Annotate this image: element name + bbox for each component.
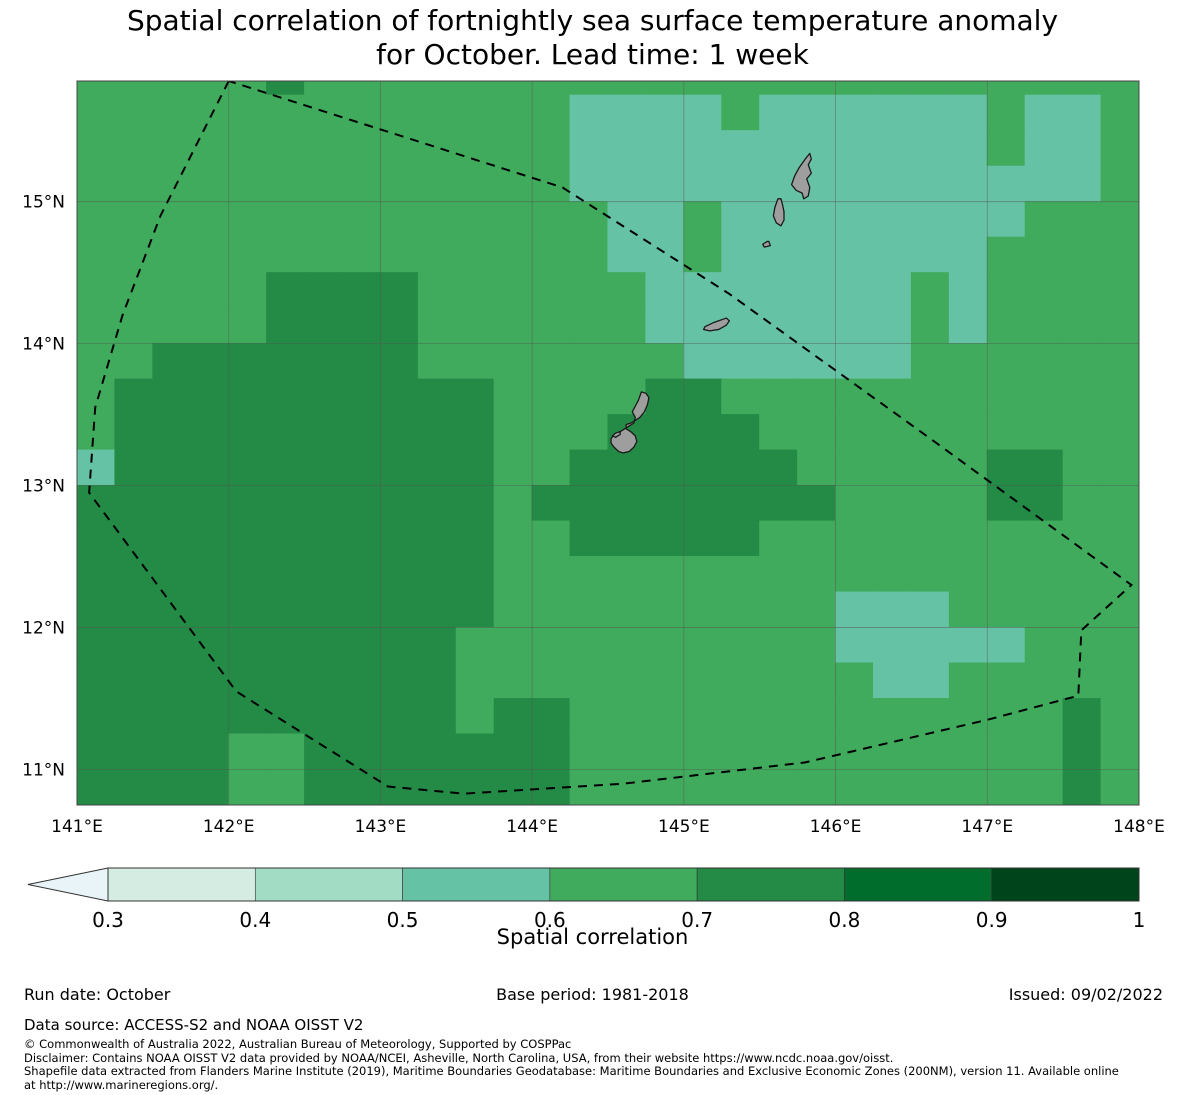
heatmap-cell	[342, 485, 381, 521]
heatmap-cell	[456, 734, 495, 770]
x-tick-label: 143°E	[355, 817, 407, 837]
x-tick-label: 144°E	[506, 817, 558, 837]
heatmap-cell	[987, 521, 1026, 557]
heatmap-cell	[456, 379, 495, 415]
heatmap-cell	[266, 95, 305, 131]
heatmap-cell	[1063, 627, 1102, 663]
heatmap-cell	[494, 130, 533, 166]
heatmap-cell	[1025, 95, 1064, 131]
heatmap-cell	[114, 237, 153, 273]
heatmap-cell	[683, 130, 722, 166]
heatmap-cell	[304, 272, 343, 308]
heatmap-cell	[987, 556, 1026, 592]
heatmap-cell	[114, 130, 153, 166]
heatmap-cell	[645, 556, 684, 592]
heatmap-cell	[683, 166, 722, 202]
heatmap-cell	[152, 308, 191, 344]
heatmap-cell	[1025, 450, 1064, 486]
heatmap-cell	[683, 592, 722, 628]
heatmap-cell	[342, 414, 381, 450]
heatmap-cell	[152, 81, 191, 96]
heatmap-cell	[608, 272, 647, 308]
heatmap-cell	[911, 734, 950, 770]
heatmap-cell	[1063, 308, 1102, 344]
heatmap-cell	[645, 769, 684, 805]
heatmap-cell	[645, 521, 684, 557]
heatmap-cell	[873, 308, 912, 344]
heatmap-cell	[721, 627, 760, 663]
heatmap-cell	[873, 734, 912, 770]
heatmap-cell	[1025, 734, 1064, 770]
heatmap-cell	[456, 201, 495, 237]
heatmap-cell	[873, 237, 912, 273]
heatmap-cell	[152, 201, 191, 237]
heatmap-cell	[949, 556, 988, 592]
heatmap-cell	[835, 627, 874, 663]
heatmap-cell	[987, 308, 1026, 344]
heatmap-cell	[570, 769, 609, 805]
heatmap-cell	[266, 379, 305, 415]
heatmap-cell	[987, 769, 1026, 805]
heatmap-cell	[873, 379, 912, 415]
heatmap-cell	[418, 769, 457, 805]
heatmap-cell	[1025, 485, 1064, 521]
heatmap-cell	[418, 343, 457, 379]
colorbar	[28, 868, 1139, 901]
heatmap-cell	[759, 81, 798, 96]
heatmap-cell	[1101, 769, 1140, 805]
heatmap-cell	[873, 627, 912, 663]
heatmap-cell	[418, 95, 457, 131]
heatmap-cell	[797, 556, 836, 592]
heatmap-cell	[532, 343, 571, 379]
heatmap-cell	[304, 627, 343, 663]
heatmap-cell	[835, 201, 874, 237]
heatmap-cell	[645, 627, 684, 663]
heatmap-cell	[380, 556, 419, 592]
heatmap-cell	[494, 272, 533, 308]
heatmap-cells	[77, 81, 1140, 806]
heatmap-cell	[949, 485, 988, 521]
heatmap-cell	[1063, 272, 1102, 308]
heatmap-cell	[949, 201, 988, 237]
heatmap-cell	[77, 308, 116, 344]
heatmap-cell	[532, 698, 571, 734]
heatmap-cell	[1025, 663, 1064, 699]
heatmap-cell	[570, 592, 609, 628]
heatmap-cell	[835, 272, 874, 308]
heatmap-cell	[114, 592, 153, 628]
heatmap-cell	[304, 698, 343, 734]
heatmap-cell	[380, 343, 419, 379]
heatmap-cell	[797, 237, 836, 273]
heatmap-cell	[1025, 521, 1064, 557]
heatmap-cell	[418, 450, 457, 486]
heatmap-cell	[266, 81, 305, 96]
heatmap-cell	[380, 734, 419, 770]
heatmap-cell	[114, 95, 153, 131]
heatmap-cell	[266, 698, 305, 734]
heatmap-cell	[797, 379, 836, 415]
heatmap-cell	[873, 663, 912, 699]
heatmap-cell	[418, 308, 457, 344]
heatmap-cell	[380, 769, 419, 805]
heatmap-cell	[304, 166, 343, 202]
heatmap-cell	[1063, 81, 1102, 96]
heatmap-cell	[797, 272, 836, 308]
heatmap-cell	[645, 237, 684, 273]
heatmap-cell	[342, 308, 381, 344]
y-tick-label: 12°N	[22, 619, 65, 639]
heatmap-cell	[304, 379, 343, 415]
heatmap-cell	[418, 485, 457, 521]
heatmap-cell	[645, 201, 684, 237]
heatmap-cell	[304, 450, 343, 486]
heatmap-cell	[570, 201, 609, 237]
heatmap-cell	[949, 698, 988, 734]
heatmap-cell	[114, 414, 153, 450]
heatmap-cell	[949, 95, 988, 131]
heatmap-cell	[228, 521, 267, 557]
heatmap-cell	[266, 592, 305, 628]
heatmap-cell	[759, 95, 798, 131]
heatmap-cell	[190, 450, 229, 486]
heatmap-cell	[1025, 414, 1064, 450]
heatmap-cell	[721, 414, 760, 450]
heatmap-cell	[418, 734, 457, 770]
heatmap-cell	[949, 414, 988, 450]
heatmap-cell	[190, 201, 229, 237]
heatmap-cell	[190, 343, 229, 379]
heatmap-cell	[949, 627, 988, 663]
data-source-text: Data source: ACCESS-S2 and NOAA OISST V2	[24, 1016, 363, 1034]
heatmap-cell	[683, 556, 722, 592]
heatmap-cell	[1063, 592, 1102, 628]
heatmap-cell	[1101, 166, 1140, 202]
heatmap-cell	[228, 627, 267, 663]
heatmap-cell	[228, 698, 267, 734]
heatmap-cell	[380, 95, 419, 131]
heatmap-cell	[987, 698, 1026, 734]
x-tick-label: 146°E	[810, 817, 862, 837]
heatmap-cell	[1101, 343, 1140, 379]
heatmap-cell	[645, 272, 684, 308]
heatmap-cell	[645, 485, 684, 521]
heatmap-cell	[342, 521, 381, 557]
heatmap-cell	[532, 556, 571, 592]
heatmap-cell	[494, 698, 533, 734]
heatmap-cell	[532, 414, 571, 450]
heatmap-cell	[759, 130, 798, 166]
heatmap-cell	[1101, 450, 1140, 486]
heatmap-cell	[721, 237, 760, 273]
heatmap-cell	[266, 734, 305, 770]
heatmap-cell	[1063, 769, 1102, 805]
heatmap-cell	[797, 521, 836, 557]
heatmap-cell	[570, 308, 609, 344]
heatmap-cell	[911, 592, 950, 628]
heatmap-cell	[873, 556, 912, 592]
heatmap-cell	[873, 201, 912, 237]
heatmap-cell	[494, 734, 533, 770]
heatmap-cell	[911, 556, 950, 592]
heatmap-cell	[608, 734, 647, 770]
heatmap-cell	[304, 81, 343, 96]
heatmap-cell	[1101, 698, 1140, 734]
x-axis-tick-labels: 141°E142°E143°E144°E145°E146°E147°E148°E	[51, 817, 1165, 837]
heatmap-cell	[342, 166, 381, 202]
heatmap-cell	[797, 698, 836, 734]
heatmap-cell	[77, 663, 116, 699]
heatmap-cell	[721, 485, 760, 521]
heatmap-cell	[835, 166, 874, 202]
heatmap-cell	[683, 627, 722, 663]
colorbar-segment	[992, 868, 1139, 901]
heatmap-cell	[949, 769, 988, 805]
heatmap-cell	[114, 272, 153, 308]
heatmap-cell	[911, 379, 950, 415]
heatmap-cell	[1101, 95, 1140, 131]
heatmap-cell	[1101, 663, 1140, 699]
heatmap-cell	[380, 592, 419, 628]
heatmap-cell	[797, 81, 836, 96]
heatmap-cell	[570, 272, 609, 308]
heatmap-cell	[494, 81, 533, 96]
heatmap-cell	[759, 485, 798, 521]
heatmap-cell	[721, 201, 760, 237]
heatmap-cell	[835, 308, 874, 344]
heatmap-cell	[456, 95, 495, 131]
heatmap-cell	[380, 521, 419, 557]
heatmap-cell	[683, 485, 722, 521]
heatmap-cell	[152, 521, 191, 557]
heatmap-cell	[608, 450, 647, 486]
heatmap-cell	[152, 379, 191, 415]
heatmap-cell	[1025, 698, 1064, 734]
heatmap-cell	[683, 414, 722, 450]
heatmap-cell	[721, 450, 760, 486]
heatmap-cell	[570, 166, 609, 202]
heatmap-cell	[797, 95, 836, 131]
heatmap-cell	[835, 343, 874, 379]
heatmap-cell	[456, 308, 495, 344]
heatmap-cell	[570, 521, 609, 557]
heatmap-cell	[835, 81, 874, 96]
heatmap-cell	[759, 627, 798, 663]
heatmap-cell	[77, 95, 116, 131]
heatmap-cell	[418, 201, 457, 237]
heatmap-cell	[266, 769, 305, 805]
heatmap-cell	[1063, 556, 1102, 592]
heatmap-cell	[532, 308, 571, 344]
heatmap-cell	[77, 769, 116, 805]
heatmap-cell	[987, 343, 1026, 379]
heatmap-cell	[1101, 521, 1140, 557]
heatmap-cell	[228, 237, 267, 273]
heatmap-cell	[873, 81, 912, 96]
heatmap-cell	[759, 272, 798, 308]
heatmap-cell	[380, 166, 419, 202]
heatmap-cell	[570, 627, 609, 663]
heatmap-cell	[1063, 734, 1102, 770]
heatmap-cell	[304, 201, 343, 237]
heatmap-cell	[228, 734, 267, 770]
colorbar-segment	[255, 868, 402, 901]
heatmap-cell	[608, 485, 647, 521]
heatmap-cell	[835, 769, 874, 805]
heatmap-cell	[380, 81, 419, 96]
heatmap-cell	[911, 81, 950, 96]
heatmap-cell	[759, 592, 798, 628]
heatmap-cell	[152, 698, 191, 734]
heatmap-cell	[608, 166, 647, 202]
heatmap-cell	[418, 237, 457, 273]
heatmap-cell	[266, 485, 305, 521]
heatmap-cell	[759, 414, 798, 450]
heatmap-cell	[608, 130, 647, 166]
heatmap-cell	[987, 379, 1026, 415]
heatmap-cell	[1101, 308, 1140, 344]
heatmap-cell	[911, 95, 950, 131]
heatmap-cell	[608, 343, 647, 379]
heatmap-cell	[570, 95, 609, 131]
heatmap-cell	[342, 663, 381, 699]
heatmap-cell	[911, 343, 950, 379]
heatmap-cell	[77, 166, 116, 202]
heatmap-cell	[949, 130, 988, 166]
heatmap-cell	[835, 130, 874, 166]
heatmap-cell	[608, 81, 647, 96]
heatmap-cell	[1063, 450, 1102, 486]
heatmap-cell	[1063, 379, 1102, 415]
heatmap-cell	[987, 414, 1026, 450]
heatmap-cell	[759, 343, 798, 379]
heatmap-cell	[266, 343, 305, 379]
heatmap-cell	[190, 485, 229, 521]
heatmap-cell	[304, 130, 343, 166]
heatmap-cell	[266, 237, 305, 273]
heatmap-cell	[456, 81, 495, 96]
heatmap-cell	[721, 769, 760, 805]
heatmap-cell	[190, 272, 229, 308]
heatmap-cell	[77, 414, 116, 450]
heatmap-cell	[987, 166, 1026, 202]
heatmap-cell	[418, 663, 457, 699]
heatmap-cell	[456, 237, 495, 273]
heatmap-cell	[228, 308, 267, 344]
heatmap-cell	[380, 201, 419, 237]
heatmap-cell	[1025, 343, 1064, 379]
heatmap-cell	[1063, 166, 1102, 202]
heatmap-cell	[114, 627, 153, 663]
heatmap-cell	[380, 450, 419, 486]
heatmap-cell	[949, 343, 988, 379]
heatmap-cell	[418, 698, 457, 734]
heatmap-cell	[797, 592, 836, 628]
heatmap-cell	[152, 343, 191, 379]
heatmap-cell	[835, 414, 874, 450]
heatmap-cell	[987, 450, 1026, 486]
heatmap-cell	[77, 237, 116, 273]
heatmap-cell	[114, 734, 153, 770]
heatmap-cell	[190, 698, 229, 734]
heatmap-cell	[456, 272, 495, 308]
x-tick-label: 148°E	[1113, 817, 1165, 837]
x-tick-label: 145°E	[658, 817, 710, 837]
heatmap-cell	[570, 663, 609, 699]
heatmap-cell	[380, 414, 419, 450]
heatmap-cell	[683, 343, 722, 379]
heatmap-cell	[1101, 379, 1140, 415]
heatmap-cell	[797, 734, 836, 770]
heatmap-cell	[835, 521, 874, 557]
heatmap-cell	[683, 769, 722, 805]
heatmap-cell	[835, 556, 874, 592]
heatmap-cell	[721, 379, 760, 415]
heatmap-cell	[304, 734, 343, 770]
heatmap-cell	[494, 308, 533, 344]
heatmap-cell	[532, 379, 571, 415]
heatmap-cell	[228, 450, 267, 486]
heatmap-cell	[570, 414, 609, 450]
heatmap-cell	[494, 237, 533, 273]
heatmap-cell	[949, 734, 988, 770]
heatmap-cell	[190, 166, 229, 202]
heatmap-cell	[418, 521, 457, 557]
heatmap-cell	[418, 81, 457, 96]
heatmap-cell	[304, 95, 343, 131]
heatmap-cell	[949, 166, 988, 202]
heatmap-cell	[911, 272, 950, 308]
heatmap-cell	[949, 521, 988, 557]
heatmap-cell	[683, 379, 722, 415]
heatmap-cell	[266, 556, 305, 592]
heatmap-cell	[987, 272, 1026, 308]
heatmap-cell	[494, 379, 533, 415]
heatmap-cell	[532, 627, 571, 663]
heatmap-cell	[721, 521, 760, 557]
heatmap-cell	[266, 130, 305, 166]
heatmap-cell	[645, 663, 684, 699]
heatmap-cell	[494, 95, 533, 131]
heatmap-cell	[152, 627, 191, 663]
heatmap-cell	[532, 521, 571, 557]
heatmap-cell	[1063, 237, 1102, 273]
heatmap-cell	[342, 201, 381, 237]
heatmap-cell	[380, 272, 419, 308]
heatmap-cell	[304, 769, 343, 805]
heatmap-cell	[456, 663, 495, 699]
heatmap-cell	[418, 130, 457, 166]
y-tick-label: 14°N	[22, 335, 65, 355]
heatmap-cell	[152, 414, 191, 450]
heatmap-cell	[1101, 130, 1140, 166]
heatmap-cell	[266, 450, 305, 486]
heatmap-cell	[1101, 592, 1140, 628]
heatmap-cell	[759, 450, 798, 486]
heatmap-cell	[342, 734, 381, 770]
heatmap-cell	[228, 272, 267, 308]
heatmap-cell	[645, 95, 684, 131]
heatmap-cell	[190, 130, 229, 166]
heatmap-cell	[152, 556, 191, 592]
heatmap-cell	[380, 663, 419, 699]
heatmap-cell	[873, 592, 912, 628]
heatmap-cell	[608, 663, 647, 699]
heatmap-cell	[570, 698, 609, 734]
heatmap-cell	[759, 521, 798, 557]
heatmap-cell	[1025, 201, 1064, 237]
